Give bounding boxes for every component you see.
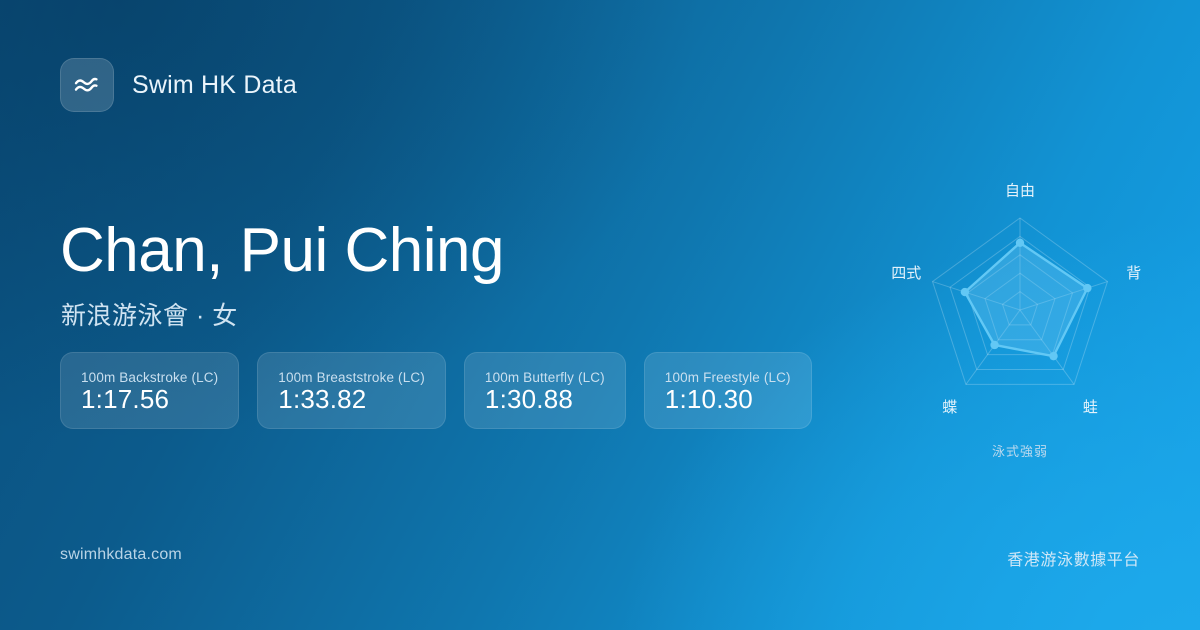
stat-card-value: 1:30.88: [485, 386, 605, 412]
stat-card[interactable]: 100m Butterfly (LC) 1:30.88: [464, 352, 626, 429]
radar-data-point: [990, 341, 998, 349]
stat-card-label: 100m Freestyle (LC): [665, 370, 791, 385]
footer-site-url: swimhkdata.com: [60, 546, 182, 564]
stat-card-label: 100m Breaststroke (LC): [278, 370, 425, 385]
radar-axis-label: 四式: [891, 265, 921, 282]
brand-header: Swim HK Data: [60, 58, 297, 112]
footer-tagline: 香港游泳數據平台: [1007, 546, 1140, 570]
radar-area: [965, 243, 1087, 356]
stroke-strength-radar-chart: 自由背蛙蝶四式: [860, 160, 1180, 480]
brand-name: Swim HK Data: [132, 71, 297, 100]
stat-card-label: 100m Butterfly (LC): [485, 370, 605, 385]
stat-card-value: 1:33.82: [278, 386, 425, 412]
athlete-name: Chan, Pui Ching: [60, 218, 504, 283]
wave-approx-icon: [60, 58, 114, 112]
athlete-meta: 新浪游泳會 · 女: [61, 296, 238, 332]
stat-card-value: 1:17.56: [81, 386, 218, 412]
radar-axis-label: 自由: [1005, 182, 1035, 199]
radar-data-point: [1083, 284, 1091, 292]
stat-card[interactable]: 100m Breaststroke (LC) 1:33.82: [257, 352, 446, 429]
radar-caption: 泳式強弱: [860, 441, 1180, 460]
radar-data-point: [1049, 352, 1057, 360]
stat-card-list: 100m Backstroke (LC) 1:17.56 100m Breast…: [60, 352, 812, 429]
radar-axis-label: 蛙: [1083, 399, 1098, 416]
stat-card[interactable]: 100m Freestyle (LC) 1:10.30: [644, 352, 812, 429]
radar-axis-label: 蝶: [942, 399, 957, 416]
stat-card-label: 100m Backstroke (LC): [81, 370, 218, 385]
radar-data-point: [1016, 239, 1024, 247]
radar-data-point: [961, 288, 969, 296]
stat-card[interactable]: 100m Backstroke (LC) 1:17.56: [60, 352, 239, 429]
radar-axis-label: 背: [1126, 265, 1141, 282]
stat-card-value: 1:10.30: [665, 386, 791, 412]
share-card: Swim HK Data Chan, Pui Ching 新浪游泳會 · 女 1…: [0, 0, 1200, 630]
